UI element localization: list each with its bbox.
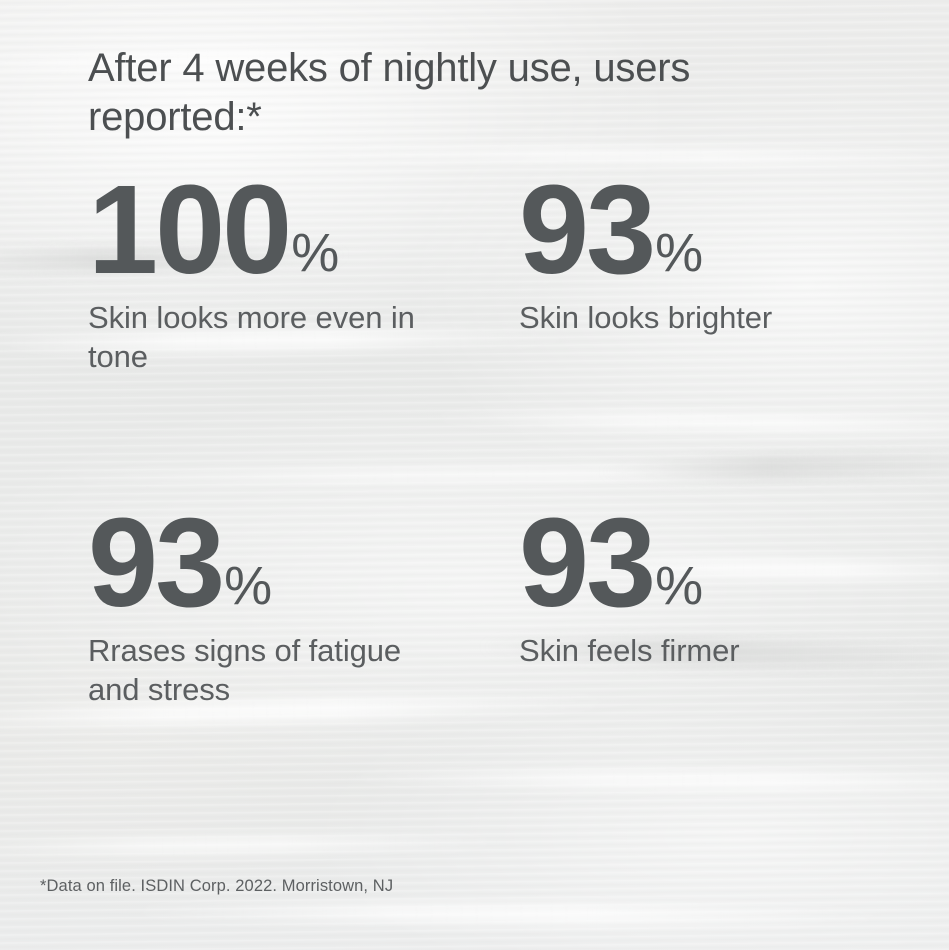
stats-grid: 100 % Skin looks more even in tone 93 % … xyxy=(0,0,949,950)
stat-label: Skin looks more even in tone xyxy=(88,298,448,376)
stat-value: 93 % xyxy=(519,178,939,282)
stat-number: 93 xyxy=(519,511,653,614)
percent-symbol: % xyxy=(291,226,338,280)
stat-block: 93 % Skin feels firmer xyxy=(519,511,939,670)
stat-value: 93 % xyxy=(88,511,508,615)
footnote: *Data on file. ISDIN Corp. 2022. Morrist… xyxy=(40,877,393,896)
percent-symbol: % xyxy=(224,559,271,613)
stat-block: 93 % Skin looks brighter xyxy=(519,178,939,337)
stat-value: 93 % xyxy=(519,511,939,615)
stat-label: Skin looks brighter xyxy=(519,298,879,337)
infographic-canvas: After 4 weeks of nightly use, users repo… xyxy=(0,0,949,950)
stat-number: 100 xyxy=(88,178,289,281)
infographic-content: After 4 weeks of nightly use, users repo… xyxy=(0,0,949,950)
percent-symbol: % xyxy=(655,559,702,613)
stat-value: 100 % xyxy=(88,178,508,282)
stat-label: Rrases signs of fatigue and stress xyxy=(88,631,448,709)
stat-label: Skin feels firmer xyxy=(519,631,879,670)
stat-block: 100 % Skin looks more even in tone xyxy=(88,178,508,376)
stat-number: 93 xyxy=(88,511,222,614)
stat-block: 93 % Rrases signs of fatigue and stress xyxy=(88,511,508,709)
percent-symbol: % xyxy=(655,226,702,280)
stat-number: 93 xyxy=(519,178,653,281)
